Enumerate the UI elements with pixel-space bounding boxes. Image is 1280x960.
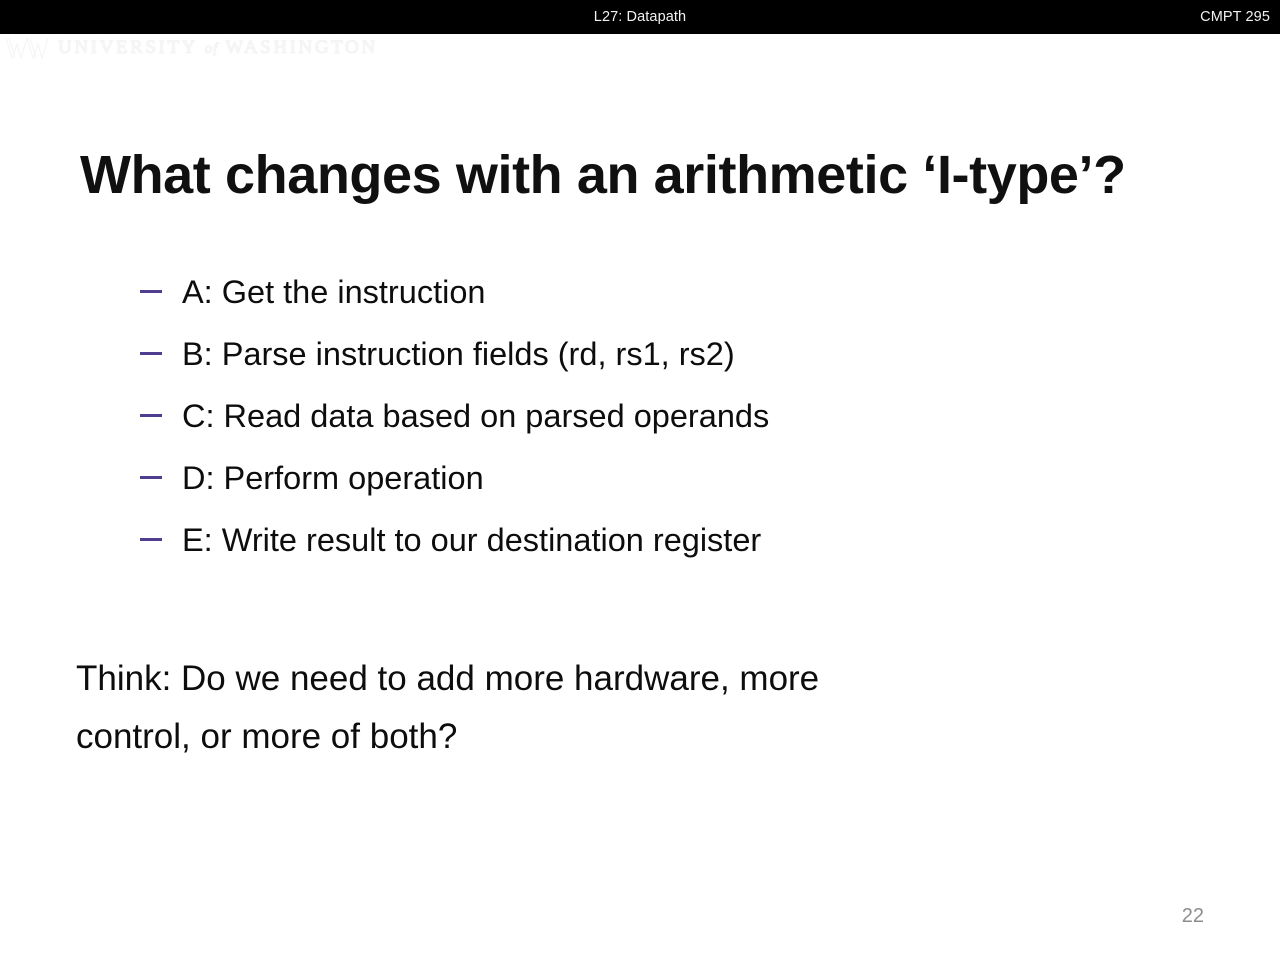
uw-wordmark: UNIVERSITY of WASHINGTON	[58, 37, 378, 59]
uw-word-washington: WASHINGTON	[225, 37, 377, 58]
list-item: A: Get the instruction	[138, 268, 1218, 330]
list-item-label: B: Parse instruction fields (rd, rs1, rs…	[182, 336, 735, 372]
em-dash-icon	[140, 414, 162, 417]
uw-word-of: of	[205, 41, 219, 57]
slide-header-bar: L27: Datapath CMPT 295	[0, 0, 1280, 34]
em-dash-icon	[140, 538, 162, 541]
list-item-label: E: Write result to our destination regis…	[182, 522, 761, 558]
uw-word-university: UNIVERSITY	[58, 37, 197, 58]
slide-title: What changes with an arithmetic ‘I-type’…	[80, 144, 1210, 206]
list-item-label: D: Perform operation	[182, 460, 484, 496]
list-item-label: C: Read data based on parsed operands	[182, 398, 769, 434]
em-dash-icon	[140, 290, 162, 293]
think-prompt-line: control, or more of both?	[76, 708, 1086, 766]
list-item: C: Read data based on parsed operands	[138, 392, 1218, 454]
list-item-label: A: Get the instruction	[182, 274, 485, 310]
list-item: D: Perform operation	[138, 454, 1218, 516]
slide-number: 22	[1182, 905, 1204, 928]
list-item: E: Write result to our destination regis…	[138, 516, 1218, 578]
list-item: B: Parse instruction fields (rd, rs1, rs…	[138, 330, 1218, 392]
think-prompt: Think: Do we need to add more hardware, …	[76, 650, 1086, 766]
uw-watermark: UNIVERSITY of WASHINGTON	[4, 34, 378, 62]
course-code: CMPT 295	[1200, 0, 1270, 34]
think-prompt-line: Think: Do we need to add more hardware, …	[76, 650, 1086, 708]
uw-w-logo-icon	[4, 35, 50, 61]
bullet-list: A: Get the instruction B: Parse instruct…	[138, 268, 1218, 578]
em-dash-icon	[140, 352, 162, 355]
em-dash-icon	[140, 476, 162, 479]
lecture-title: L27: Datapath	[0, 0, 1280, 34]
